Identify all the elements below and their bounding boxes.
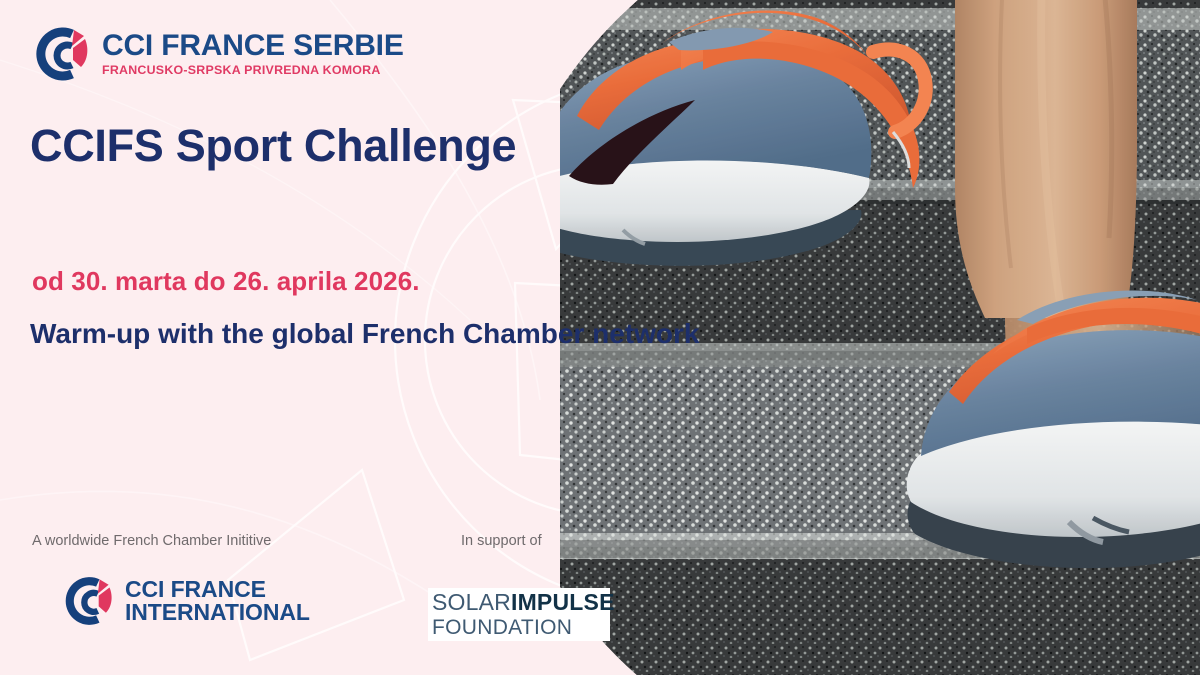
content-panel: CCI FRANCE SERBIE FRANCUSKO-SRPSKA PRIVR… [0, 0, 680, 675]
page-title: CCIFS Sport Challenge [30, 122, 516, 169]
header-logo-text: CCI FRANCE SERBIE FRANCUSKO-SRPSKA PRIVR… [102, 31, 404, 76]
event-subtitle: Warm-up with the global French Chamber n… [30, 315, 770, 353]
solar-word-light: SOLAR [432, 589, 511, 615]
poster-canvas: CCI FRANCE SERBIE FRANCUSKO-SRPSKA PRIVR… [0, 0, 1200, 675]
cci-international-line1: CCI FRANCE [125, 578, 310, 601]
cci-international-line2: INTERNATIONAL [125, 601, 310, 624]
header-logo-subtitle: FRANCUSKO-SRPSKA PRIVREDNA KOMORA [102, 64, 404, 76]
cci-france-international-logo: CCI FRANCE INTERNATIONAL [58, 574, 310, 628]
header-logo-title: CCI FRANCE SERBIE [102, 31, 404, 61]
cci-circle-mark-icon [58, 574, 116, 628]
event-date-range: od 30. marta do 26. aprila 2026. [32, 266, 420, 297]
solar-impulse-wordmark: SOLARIMPULSE [432, 590, 610, 616]
support-note: In support of [461, 533, 542, 549]
solar-impulse-foundation-logo: SOLARIMPULSE FOUNDATION [428, 588, 610, 641]
initiative-note: A worldwide French Chamber Inititive [32, 533, 271, 549]
solar-impulse-foundation-word: FOUNDATION [432, 616, 610, 640]
header-logo: CCI FRANCE SERBIE FRANCUSKO-SRPSKA PRIVR… [28, 24, 404, 84]
cci-circle-mark-icon [28, 24, 92, 84]
cci-france-international-text: CCI FRANCE INTERNATIONAL [125, 578, 310, 625]
solar-word-bold: IMPULSE [511, 589, 615, 615]
